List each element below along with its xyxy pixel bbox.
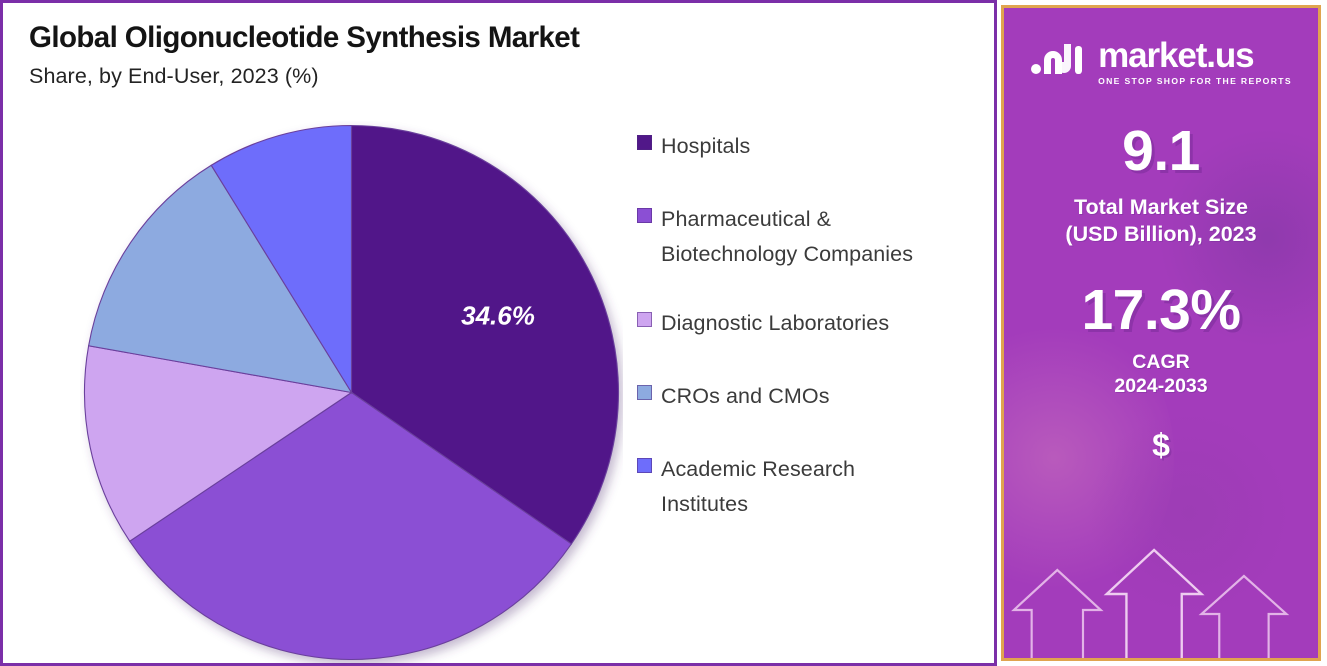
logo-wordmark: market.us <box>1098 38 1253 73</box>
legend-item[interactable]: Hospitals <box>637 129 987 164</box>
legend-swatch-icon <box>637 458 652 473</box>
stat-panel: market.us ONE STOP SHOP FOR THE REPORTS … <box>997 0 1327 666</box>
brand-logo[interactable]: market.us ONE STOP SHOP FOR THE REPORTS <box>1004 36 1318 87</box>
legend-swatch-icon <box>637 135 652 150</box>
dollar-sign-icon: $ <box>1004 427 1318 464</box>
market-size-caption-line2: (USD Billion), 2023 <box>1014 221 1308 248</box>
pie-chart-svg: 34.6% <box>80 121 623 664</box>
legend-item[interactable]: CROs and CMOs <box>637 379 987 414</box>
legend-item[interactable]: Academic ResearchInstitutes <box>637 452 987 522</box>
legend-item-label: CROs and CMOs <box>661 379 830 414</box>
chart-panel: Global Oligonucleotide Synthesis Market … <box>0 0 997 666</box>
market-size-value: 9.1 <box>1014 123 1308 180</box>
legend-swatch-icon <box>637 385 652 400</box>
cagr-caption-line2: 2024-2033 <box>1014 375 1308 399</box>
legend-swatch-icon <box>637 312 652 327</box>
market-size-caption-line1: Total Market Size <box>1014 194 1308 221</box>
market-size-stat: 9.1 Total Market Size (USD Billion), 202… <box>1004 123 1318 248</box>
legend-swatch-icon <box>637 208 652 223</box>
chart-titles: Global Oligonucleotide Synthesis Market … <box>29 21 579 89</box>
legend-item-label: Academic ResearchInstitutes <box>661 452 855 522</box>
pie-slices-group <box>84 126 618 660</box>
legend: HospitalsPharmaceutical &Biotechnology C… <box>637 129 987 557</box>
legend-item-label: Diagnostic Laboratories <box>661 306 889 341</box>
legend-item-label: Pharmaceutical &Biotechnology Companies <box>661 202 913 272</box>
cagr-stat: 17.3% CAGR 2024-2033 <box>1004 282 1318 399</box>
page-title: Global Oligonucleotide Synthesis Market <box>29 21 579 55</box>
cagr-caption-line1: CAGR <box>1014 351 1308 375</box>
infographic-root: Global Oligonucleotide Synthesis Market … <box>0 0 1327 666</box>
market-us-logo-icon <box>1030 36 1086 87</box>
logo-text-block: market.us ONE STOP SHOP FOR THE REPORTS <box>1098 38 1292 86</box>
market-size-caption: Total Market Size (USD Billion), 2023 <box>1014 194 1308 248</box>
logo-tagline: ONE STOP SHOP FOR THE REPORTS <box>1098 76 1292 86</box>
cagr-value: 17.3% <box>1014 282 1308 339</box>
legend-item[interactable]: Diagnostic Laboratories <box>637 306 987 341</box>
legend-item-label: Hospitals <box>661 129 750 164</box>
page-subtitle: Share, by End-User, 2023 (%) <box>29 64 579 89</box>
pie-chart: 34.6% <box>80 121 623 664</box>
pie-slice-label-hospitals: 34.6% <box>461 301 535 331</box>
growth-arrows-icon <box>1004 548 1318 658</box>
stat-panel-inner: market.us ONE STOP SHOP FOR THE REPORTS … <box>1001 5 1321 661</box>
legend-item[interactable]: Pharmaceutical &Biotechnology Companies <box>637 202 987 272</box>
cagr-caption: CAGR 2024-2033 <box>1014 351 1308 399</box>
